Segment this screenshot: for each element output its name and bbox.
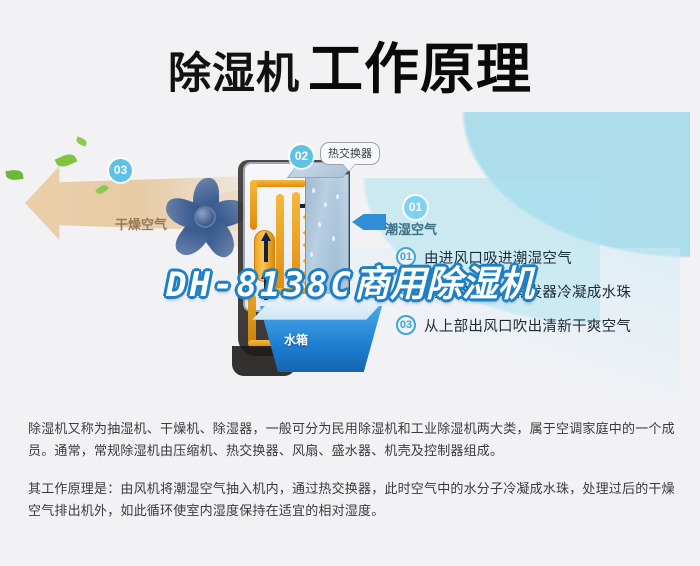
- coil-pipe: [250, 180, 257, 230]
- water-droplet: [332, 236, 335, 241]
- water-droplet: [336, 194, 339, 199]
- list-item: 03 从上部出风口吹出清新干爽空气: [396, 308, 692, 342]
- fan-icon: [160, 170, 250, 260]
- page-title-part1: 除湿机: [168, 50, 300, 98]
- leaf-icon: [5, 169, 23, 181]
- list-item: 02 潮湿空气经过蒸发器冷凝成水珠: [396, 274, 692, 308]
- flow-arrow-up-stem: [264, 240, 268, 262]
- water-droplet: [322, 280, 325, 285]
- page-title: 除湿机工作原理: [0, 24, 700, 104]
- evaporator-icon: [305, 174, 349, 302]
- description-block: 除湿机又称为抽湿机、干燥机、除湿器，一般可分为民用除湿机和工业除湿机两大类，属于…: [28, 418, 678, 522]
- dry-air-label: 干燥空气: [115, 214, 167, 233]
- flow-arrow-up-stem: [264, 278, 268, 300]
- diagram-badge-03: 03: [109, 159, 132, 182]
- water-droplet: [340, 268, 343, 273]
- step-text: 潮湿空气经过蒸发器冷凝成水珠: [424, 281, 631, 302]
- water-tank-label: 水箱: [284, 331, 308, 348]
- coil-pipe: [250, 180, 306, 187]
- step-number: 01: [396, 247, 416, 267]
- infographic-page: 除湿机工作原理: [0, 0, 700, 566]
- step-number: 02: [396, 281, 416, 301]
- water-droplet: [312, 188, 315, 193]
- leaf-icon: [75, 136, 88, 146]
- step-text: 从上部出风口吹出清新干爽空气: [424, 315, 631, 336]
- water-droplet: [324, 202, 327, 207]
- coil-pipe: [292, 192, 300, 292]
- page-title-part2: 工作原理: [308, 38, 532, 100]
- steps-list: 01 由进风口吸进潮湿空气 02 潮湿空气经过蒸发器冷凝成水珠 03 从上部出风…: [396, 240, 692, 342]
- coil-pipe: [248, 294, 256, 346]
- description-paragraph-1: 除湿机又称为抽湿机、干燥机、除湿器，一般可分为民用除湿机和工业除湿机两大类，属于…: [28, 418, 678, 462]
- humid-air-label: 潮湿空气: [385, 219, 437, 238]
- step-number: 03: [396, 315, 416, 335]
- heat-exchanger-callout: 热交换器: [320, 142, 380, 165]
- flow-arrow-up: [261, 232, 271, 241]
- diagram-badge-01: 01: [404, 196, 427, 219]
- list-item: 01 由进风口吸进潮湿空气: [396, 240, 692, 274]
- water-droplet: [318, 222, 321, 227]
- step-text: 由进风口吸进潮湿空气: [424, 247, 572, 268]
- diagram-badge-02: 02: [290, 145, 313, 168]
- coil-pipe: [276, 194, 284, 294]
- flow-arrow-up: [261, 270, 271, 279]
- leaf-icon: [55, 151, 78, 169]
- description-paragraph-2: 其工作原理是：由风机将潮湿空气抽入机内，通过热交换器，此时空气中的水分子冷凝成水…: [28, 478, 678, 522]
- water-droplet: [310, 252, 313, 257]
